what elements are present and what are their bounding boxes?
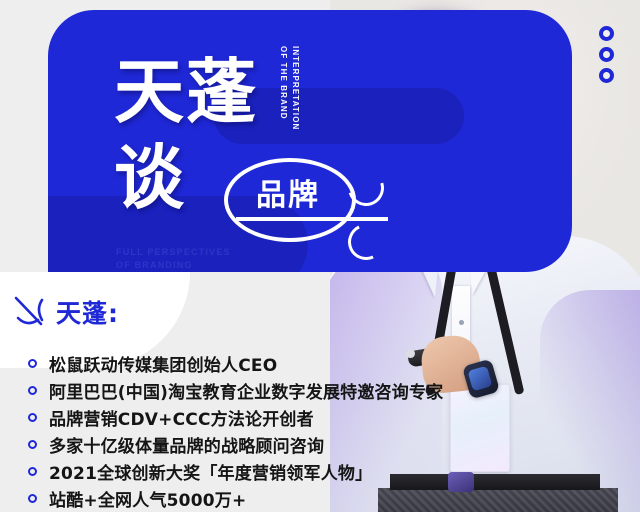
bullet-icon [28,413,37,422]
hero-panel: 天蓬 谈 INTERPRETATION OF THE BRAND 品牌 FULL… [48,10,572,272]
brand-badge-label: 品牌 [244,170,332,214]
poster-canvas: 天蓬 谈 INTERPRETATION OF THE BRAND 品牌 FULL… [0,0,640,512]
shirt-button [459,320,464,325]
list-item-label: 2021全球创新大奖「年度营销领军人物」 [49,459,372,484]
bullet-icon [28,440,37,449]
list-item-label: 品牌营销CDV+CCC方法论开创者 [49,405,314,430]
speaker-name-row: 天蓬: [14,292,119,332]
list-item: 阿里巴巴(中国)淘宝教育企业数字发展特邀咨询专家 [28,377,468,404]
vertical-english-tagline: INTERPRETATION OF THE BRAND [277,46,301,130]
brand-underline [236,217,388,221]
list-item: 站酷+全网人气5000万+ [28,485,468,512]
dot-3 [599,68,614,83]
speaker-name-label: 天蓬: [56,294,119,330]
bullet-icon [28,359,37,368]
list-item: 松鼠跃动传媒集团创始人CEO [28,350,468,377]
bullet-icon [28,494,37,503]
three-dots-icon [599,26,614,89]
list-item-label: 站酷+全网人气5000万+ [49,486,246,511]
list-item-label: 多家十亿级体量品牌的战略顾问咨询 [49,432,324,457]
hero-title-line-2: 谈 [114,142,186,214]
english-subtitle: FULL PERSPECTIVES OF BRANDING [116,246,231,272]
credentials-list: 松鼠跃动传媒集团创始人CEO 阿里巴巴(中国)淘宝教育企业数字发展特邀咨询专家 … [28,350,468,512]
dot-1 [599,26,614,41]
bullet-icon [28,467,37,476]
list-item: 2021全球创新大奖「年度营销领军人物」 [28,458,468,485]
list-item: 品牌营销CDV+CCC方法论开创者 [28,404,468,431]
list-item-label: 松鼠跃动传媒集团创始人CEO [49,351,277,376]
arc-flourish-icon [343,219,389,265]
flourish-svg [14,294,54,330]
hero-title-line-1: 天蓬 [114,56,258,128]
list-item-label: 阿里巴巴(中国)淘宝教育企业数字发展特邀咨询专家 [49,378,443,403]
list-item: 多家十亿级体量品牌的战略顾问咨询 [28,431,468,458]
dot-2 [599,47,614,62]
bullet-icon [28,386,37,395]
slash-arc-flourish-icon [14,294,54,330]
